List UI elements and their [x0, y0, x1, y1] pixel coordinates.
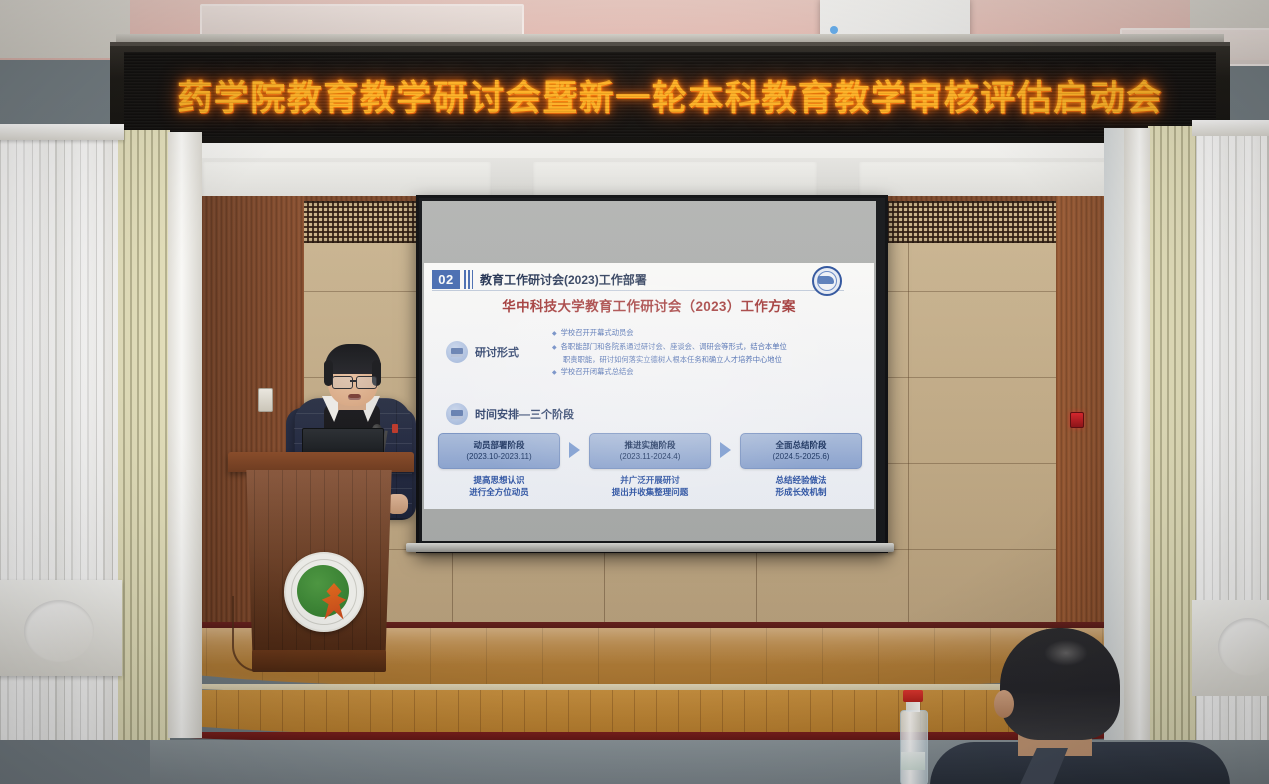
stage-caption-line1: 提高思想认识 [438, 474, 560, 486]
stage-item: 推进实施阶段 (2023.11-2024.4) 并广泛开展研讨 提出并收集整理问… [589, 433, 711, 498]
stage-caption-line1: 总结经验做法 [740, 474, 862, 486]
stage-box: 推进实施阶段 (2023.11-2024.4) [589, 433, 711, 469]
conference-photo: 药学院教育教学研讨会暨新一轮本科教育教学审核评估启动会 02 教育工作研讨会(2… [0, 0, 1269, 784]
slide-row-timeline: 时间安排—三个阶段 [446, 403, 574, 425]
stage-period: (2023.11-2024.4) [620, 451, 681, 462]
hust-logo-icon [812, 266, 842, 296]
pillar-right-capital [1192, 120, 1269, 136]
glasses-bridge [350, 380, 357, 382]
stage-caption-line2: 形成长效机制 [740, 486, 862, 498]
slide-bullet-continuation: 职责职能，研讨如何落实立德树人根本任务和确立人才培养中心地位 [552, 354, 862, 366]
red-indicator-light [1070, 412, 1084, 428]
arrow-right-icon [715, 433, 737, 467]
slide-bullet: 学校召开开幕式动员会 [552, 327, 862, 341]
stage-name: 全面总结阶段 [775, 440, 826, 451]
slide-row2-label: 时间安排—三个阶段 [475, 406, 574, 422]
slide-row1-label: 研讨形式 [475, 344, 519, 360]
stage-item: 全面总结阶段 (2024.5-2025.6) 总结经验做法 形成长效机制 [740, 433, 862, 498]
slide-header-rule [432, 290, 844, 291]
pillar-right-medallion [1218, 618, 1269, 676]
stage-box: 全面总结阶段 (2024.5-2025.6) [740, 433, 862, 469]
wall-switch[interactable] [258, 388, 273, 412]
stage-name: 推进实施阶段 [624, 440, 675, 451]
stage-period: (2024.5-2025.6) [773, 451, 830, 462]
pillar-left-capital [0, 124, 124, 140]
projected-slide: 02 教育工作研讨会(2023)工作部署 华中科技大学教育工作研讨会（2023）… [424, 263, 874, 509]
stage-box: 动员部署阶段 (2023.10-2023.11) [438, 433, 560, 469]
slide-row-discussion-format: 研讨形式 [446, 341, 519, 363]
pillar-right-inner [1124, 128, 1150, 740]
glasses-lens-right [356, 376, 377, 389]
projection-screen-bottom-bar [406, 543, 894, 552]
stage-period: (2023.10-2023.11) [466, 451, 531, 462]
emblem-center [297, 565, 349, 617]
audience-hair-highlight [1044, 640, 1088, 666]
room-floor-left [0, 738, 150, 784]
speaker-mouth [348, 394, 361, 400]
stage-item: 动员部署阶段 (2023.10-2023.11) 提高思想认识 进行全方位动员 [438, 433, 560, 498]
slide-title: 华中科技大学教育工作研讨会（2023）工作方案 [424, 295, 874, 315]
led-scanline-overlay [124, 52, 1216, 138]
stage-name: 动员部署阶段 [473, 440, 524, 451]
pillar-left-inner [168, 132, 202, 738]
stage-caption-line2: 进行全方位动员 [438, 486, 560, 498]
glasses-lens-left [332, 376, 353, 389]
building-icon [446, 341, 468, 363]
jacket-logo-tag [392, 424, 398, 433]
slide-header: 02 教育工作研讨会(2023)工作部署 [432, 268, 866, 290]
school-emblem-icon [284, 552, 364, 632]
slatted-wall-panel-right [1148, 126, 1196, 740]
water-bottle-label [901, 752, 925, 770]
slide-section-heading: 教育工作研讨会(2023)工作部署 [480, 271, 647, 288]
audience-ear [994, 690, 1014, 718]
wall-far-right [1104, 128, 1126, 740]
water-bottle [900, 710, 928, 784]
stage-caption-line2: 提出并收集整理问题 [589, 486, 711, 498]
water-bottle-cap [903, 690, 923, 702]
slide-bullet-list: 学校召开开幕式动员会 各职能部门和各院系通过研讨会、座谈会、调研会等形式，结合本… [552, 327, 862, 379]
arrow-right-icon [564, 433, 586, 467]
slide-bullet: 学校召开闭幕式总结会 [552, 366, 862, 380]
calendar-icon [446, 403, 468, 425]
led-banner: 药学院教育教学研讨会暨新一轮本科教育教学审核评估启动会 [124, 52, 1216, 138]
slide-header-bars [464, 270, 473, 289]
slide-section-number: 02 [432, 270, 460, 289]
slatted-wall-panel-left [118, 130, 170, 740]
podium-cable [232, 596, 286, 672]
stage-caption-line1: 并广泛开展研讨 [589, 474, 711, 486]
pillar-left-medallion [24, 600, 94, 662]
podium-top [228, 452, 414, 472]
slide-bullet: 各职能部门和各院系通过研讨会、座谈会、调研会等形式，结合本单位 [552, 341, 862, 355]
slide-stage-flow: 动员部署阶段 (2023.10-2023.11) 提高思想认识 进行全方位动员 … [438, 433, 862, 498]
